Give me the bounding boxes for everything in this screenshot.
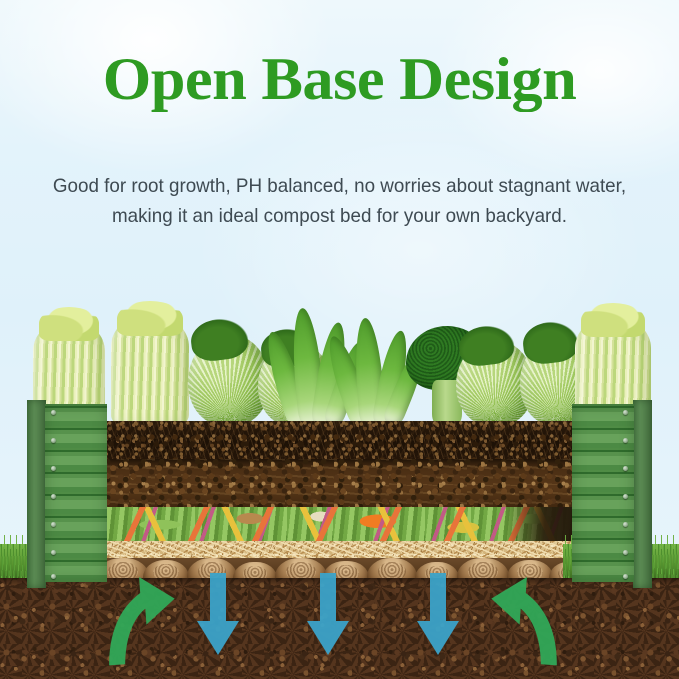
screw-icon [51, 574, 56, 579]
screw-icon [51, 466, 56, 471]
arrow-down-icon [195, 573, 241, 657]
screw-icon [623, 410, 628, 415]
screw-icon [51, 494, 56, 499]
page-title: Open Base Design [0, 48, 679, 111]
veg-napa-cabbage-2 [111, 316, 189, 426]
screw-icon [623, 550, 628, 555]
screw-icon [623, 494, 628, 499]
screw-icon [51, 550, 56, 555]
planter-panel-right [572, 404, 652, 582]
screw-icon [623, 466, 628, 471]
planter-corner-post-left [27, 400, 46, 588]
planter-slats-right [572, 404, 634, 582]
compost-cross-section [103, 421, 577, 578]
layer-top-soil-compost [103, 421, 577, 459]
screw-icon [51, 522, 56, 527]
screw-icon [623, 438, 628, 443]
layer-soil-mid-band [103, 459, 577, 507]
subtitle-line-1: Good for root growth, PH balanced, no wo… [53, 175, 626, 197]
page-subtitle: Good for root growth, PH balanced, no wo… [12, 172, 667, 231]
subtitle-line-2: making it an ideal compost bed for your … [112, 205, 567, 227]
arrow-up-icon [104, 573, 182, 665]
screw-icon [51, 438, 56, 443]
arrow-down-icon [305, 573, 351, 657]
screw-icon [623, 522, 628, 527]
arrow-up-icon [484, 573, 562, 665]
planter-panel-left [27, 404, 107, 582]
planter-corner-post-right [633, 400, 652, 588]
arrow-down-icon [415, 573, 461, 657]
planter-slats-left [45, 404, 107, 582]
screw-icon [51, 410, 56, 415]
layer-vegetable-scraps [103, 507, 577, 541]
product-feature-card: Open Base Design Good for root growth, P… [0, 0, 679, 679]
screw-icon [623, 574, 628, 579]
